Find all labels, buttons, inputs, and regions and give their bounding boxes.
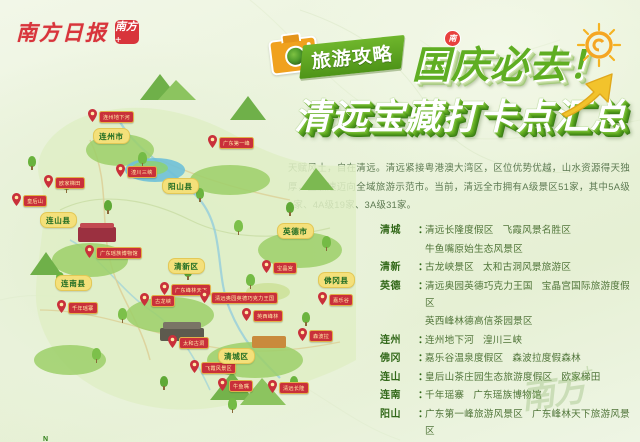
- map-pin-icon[interactable]: [57, 300, 66, 313]
- newspaper-logo-text: 南方日报: [16, 17, 108, 47]
- spot-names: 广东第一峰旅游风景区广东峰林天下旅游风景区: [425, 406, 636, 440]
- spot-name: 太和古洞风景旅游区: [483, 262, 571, 273]
- map-pin-icon[interactable]: [190, 360, 199, 373]
- map-spot-label[interactable]: 广东瑶族博物馆: [96, 247, 142, 259]
- district-name: 连南: [380, 387, 418, 404]
- map-spot-label[interactable]: 广东第一峰: [219, 137, 254, 149]
- tree-icon: [286, 202, 294, 216]
- spot-name: 欧家梯田: [561, 372, 600, 383]
- tree-icon: [104, 200, 112, 214]
- map-district-label[interactable]: 阳山县: [162, 178, 199, 194]
- district-colon: ：: [418, 278, 425, 295]
- map-pin-icon[interactable]: [116, 164, 125, 177]
- district-colon: ：: [418, 332, 425, 349]
- map-pin-icon[interactable]: [218, 378, 227, 391]
- map-pin-icon[interactable]: [208, 135, 217, 148]
- district-colon: ：: [418, 350, 425, 367]
- district-colon: ：: [418, 259, 425, 276]
- tree-icon: [28, 156, 36, 170]
- spot-names: 千年瑶寨广东瑶族博物馆: [425, 387, 636, 404]
- map-district-label[interactable]: 清城区: [218, 348, 255, 364]
- map-spot-label[interactable]: 古龙峡: [151, 295, 175, 307]
- illustrated-map: 连州地下河欧家梯田湟川三峡广东第一峰皇后山广东瑶族博物馆千年瑶寨广东峰林天下古龙…: [0, 60, 360, 442]
- map-spot-label[interactable]: 太和古洞: [179, 337, 209, 349]
- tree-icon: [92, 348, 101, 363]
- map-pin-icon[interactable]: [268, 380, 277, 393]
- map-spot-label[interactable]: 连州地下河: [99, 111, 134, 123]
- compass-north-label: N: [43, 436, 48, 442]
- tree-icon: [228, 398, 237, 413]
- map-district-label[interactable]: 连南县: [55, 275, 92, 291]
- infographic-poster: 南方日报 南方+ 旅游攻略 国庆必去！ 南 清远宝藏打卡点汇总: [0, 0, 640, 442]
- district-name: 清城: [380, 222, 418, 239]
- spot-names-continued: 牛鱼嘴原始生态风景区: [380, 241, 636, 258]
- map-pin-icon[interactable]: [298, 328, 307, 341]
- spot-name: 英西峰林德高信茶园景区: [425, 316, 533, 327]
- attraction-row: 清城：清远长隆度假区飞霞风景名胜区: [380, 222, 636, 239]
- district-colon: ：: [418, 369, 425, 386]
- map-spot-label[interactable]: 清远奥园英德巧克力王国: [211, 292, 278, 304]
- map-pin-icon[interactable]: [85, 245, 94, 258]
- tree-icon: [234, 220, 243, 235]
- map-spot-label[interactable]: 森波拉: [309, 330, 333, 342]
- spot-names: 皇后山茶庄园生态旅游度假区欧家梯田: [425, 369, 636, 386]
- map-pin-icon[interactable]: [44, 175, 53, 188]
- map-pin-icon[interactable]: [200, 290, 209, 303]
- attraction-row: 连山：皇后山茶庄园生态旅游度假区欧家梯田: [380, 369, 636, 386]
- nanfang-round-badge: 南: [444, 30, 461, 47]
- tree-icon: [322, 236, 331, 251]
- tree-icon: [246, 274, 255, 289]
- map-spot-label[interactable]: 皇后山: [23, 195, 47, 207]
- spot-name: 飞霞风景名胜区: [503, 225, 572, 236]
- district-name: 清新: [380, 259, 418, 276]
- map-district-label[interactable]: 英德市: [277, 223, 314, 239]
- attraction-row: 英德：清远奥园英德巧克力王国宝晶宫国际旅游度假区: [380, 278, 636, 312]
- map-pin-icon[interactable]: [140, 293, 149, 306]
- district-name: 阳山: [380, 406, 418, 423]
- spot-name: 嘉乐谷温泉度假区: [425, 353, 503, 364]
- attraction-row: 连南：千年瑶寨广东瑶族博物馆: [380, 387, 636, 404]
- map-spot-label[interactable]: 湟川三峡: [127, 166, 157, 178]
- map-district-label[interactable]: 佛冈县: [318, 272, 355, 288]
- map-pin-icon[interactable]: [160, 282, 169, 295]
- map-district-label[interactable]: 连州市: [93, 128, 130, 144]
- map-pin-icon[interactable]: [318, 292, 327, 305]
- district-colon: ：: [418, 406, 425, 423]
- map-spot-label[interactable]: 清远长隆: [279, 382, 309, 394]
- spot-names-continued: 英西峰林德高信茶园景区: [380, 313, 636, 330]
- spot-names: 嘉乐谷温泉度假区森波拉度假森林: [425, 350, 636, 367]
- district-name: 连州: [380, 332, 418, 349]
- district-name: 英德: [380, 278, 418, 295]
- district-name: 佛冈: [380, 350, 418, 367]
- map-spot-label[interactable]: 牛鱼嘴: [229, 380, 253, 392]
- tree-icon: [160, 376, 168, 390]
- spot-names: 清远长隆度假区飞霞风景名胜区: [425, 222, 636, 239]
- map-spot-label[interactable]: 嘉乐谷: [329, 294, 353, 306]
- tree-icon: [118, 308, 127, 323]
- map-spot-label[interactable]: 千年瑶寨: [68, 302, 98, 314]
- map-pin-icon[interactable]: [88, 109, 97, 122]
- district-colon: ：: [418, 387, 425, 404]
- spot-names: 连州地下河湟川三峡: [425, 332, 636, 349]
- attraction-row: 清新：古龙峡景区太和古洞风景旅游区: [380, 259, 636, 276]
- map-pin-icon[interactable]: [12, 193, 21, 206]
- tree-icon: [302, 312, 310, 326]
- map-spot-label[interactable]: 欧家梯田: [55, 177, 85, 189]
- map-pin-icon[interactable]: [168, 335, 177, 348]
- tree-icon: [138, 152, 147, 167]
- spot-names: 古龙峡景区太和古洞风景旅游区: [425, 259, 636, 276]
- map-spot-label[interactable]: 英西峰林: [253, 310, 283, 322]
- spot-name: 连州地下河: [425, 335, 474, 346]
- spot-name: 牛鱼嘴原始生态风景区: [425, 244, 523, 255]
- map-district-label[interactable]: 清新区: [168, 258, 205, 274]
- spot-name: 广东第一峰旅游风景区: [425, 409, 523, 420]
- nanfang-plus-badge: 南方+: [115, 20, 139, 44]
- attraction-row: 阳山：广东第一峰旅游风景区广东峰林天下旅游风景区: [380, 406, 636, 440]
- spot-name: 皇后山茶庄园生态旅游度假区: [425, 372, 552, 383]
- attraction-row: 佛冈：嘉乐谷温泉度假区森波拉度假森林: [380, 350, 636, 367]
- map-spot-label[interactable]: 宝晶宫: [273, 262, 297, 274]
- spot-names: 清远奥园英德巧克力王国宝晶宫国际旅游度假区: [425, 278, 636, 312]
- spot-name: 森波拉度假森林: [512, 353, 581, 364]
- spot-name: 千年瑶寨: [425, 390, 464, 401]
- map-pin-icon[interactable]: [262, 260, 271, 273]
- map-pin-icon[interactable]: [242, 308, 251, 321]
- spot-name: 广东瑶族博物馆: [473, 390, 542, 401]
- spot-name: 古龙峡景区: [425, 262, 474, 273]
- district-name: 连山: [380, 369, 418, 386]
- attraction-row: 连州：连州地下河湟川三峡: [380, 332, 636, 349]
- spot-name: 湟川三峡: [483, 335, 522, 346]
- spot-name: 清远长隆度假区: [425, 225, 494, 236]
- district-colon: ：: [418, 222, 425, 239]
- compass-rose: 清远 N S W E: [20, 438, 72, 442]
- map-district-label[interactable]: 连山县: [40, 212, 77, 228]
- masthead: 南方日报 南方+: [16, 17, 139, 47]
- spot-name: 清远奥园英德巧克力王国: [425, 281, 533, 292]
- attraction-list: 清城：清远长隆度假区飞霞风景名胜区牛鱼嘴原始生态风景区清新：古龙峡景区太和古洞风…: [380, 222, 636, 441]
- up-arrow-icon: [560, 62, 624, 118]
